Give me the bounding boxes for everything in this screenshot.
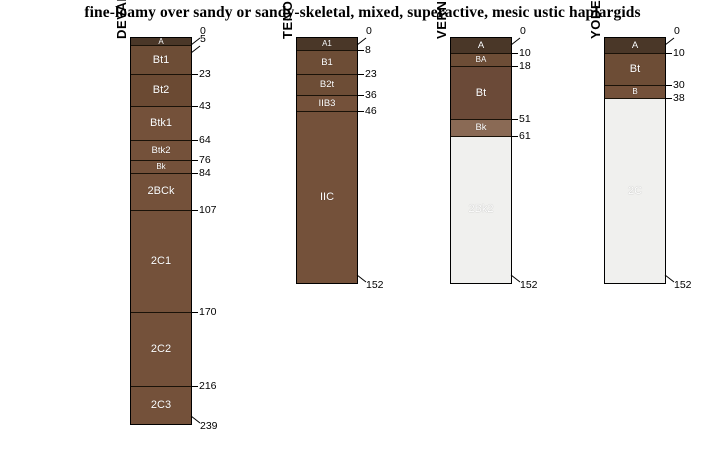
depth-tick [511,53,518,54]
profile-column: A1B1B2tIIB3IIC [296,37,358,284]
horizon-label: A [478,41,484,51]
horizon-label: Bk [475,123,486,133]
profile-name-label: TENORIO [280,0,295,39]
soil-horizon: B [605,86,665,99]
depth-tick-label: 36 [365,90,377,101]
depth-tick-label: 170 [199,307,217,318]
horizon-label: Bk [156,163,165,171]
depth-tick [191,140,198,141]
depth-tick [191,210,198,211]
soil-horizon: BA [451,54,511,67]
soil-horizon: Bt1 [131,46,191,75]
depth-axis-line [191,37,192,424]
depth-tick [357,50,364,51]
depth-tick [191,74,198,75]
horizon-label: B [632,88,637,96]
soil-horizon: 2Bk2 [451,137,511,284]
horizon-label: Bt2 [153,85,170,96]
page-title: fine-loamy over sandy or sandy-skeletal,… [0,4,725,22]
depth-tick [357,95,364,96]
depth-axis-line [665,37,666,283]
depth-tick [511,66,518,67]
horizon-label: Btk2 [151,146,170,156]
profile-column: ABt1Bt2Btk1Btk2Bk2BCk2C12C22C3 [130,37,192,425]
depth-tick [357,111,364,112]
depth-tick-label: 51 [519,114,531,125]
depth-tick-label: 10 [673,48,685,59]
depth-tick-label: 152 [366,280,384,291]
depth-tick [357,74,364,75]
horizon-label: 2Bk2 [468,204,493,215]
depth-tick [191,386,198,387]
horizon-label: 2C [628,186,642,197]
depth-tick-label: 8 [365,45,371,56]
soil-horizon: Bk [451,120,511,136]
depth-tick [191,312,198,313]
depth-tick [511,136,518,137]
depth-tick-label: 64 [199,135,211,146]
soil-horizon: A [451,38,511,54]
depth-tick-label: 5 [200,34,206,45]
depth-tick [665,98,672,99]
soil-horizon: Btk1 [131,107,191,141]
soil-horizon: Bt [451,67,511,120]
depth-tick-label: 43 [199,101,211,112]
depth-tick [191,106,198,107]
depth-tick [511,119,518,120]
depth-tick-label: 38 [673,93,685,104]
soil-horizon: 2BCk [131,174,191,211]
horizon-label: A [158,38,163,46]
soil-horizon: Bt [605,54,665,86]
soil-horizon: 2C2 [131,313,191,387]
soil-horizon: A [605,38,665,54]
depth-tick-label: 0 [520,26,526,37]
horizon-label: B2t [320,80,334,90]
horizon-label: 2C1 [151,256,171,267]
depth-tick-label: 0 [366,26,372,37]
depth-tick-label: 239 [200,421,218,432]
depth-tick-label: 10 [519,48,531,59]
depth-tick-label: 216 [199,381,217,392]
profile-name-label: YODER [588,0,603,39]
depth-tick-label: 0 [674,26,680,37]
soil-horizon: IIB3 [297,96,357,112]
soil-horizon: Bk [131,161,191,174]
horizon-label: Bt [630,64,640,75]
soil-horizon: 2C1 [131,211,191,313]
depth-tick-label: 23 [199,69,211,80]
soil-horizon: 2C [605,99,665,283]
horizon-label: IIC [320,192,334,203]
depth-tick-label: 61 [519,131,531,142]
horizon-label: Bt1 [153,55,170,66]
horizon-label: 2BCk [148,186,175,197]
profile-column: ABABtBk2Bk2 [450,37,512,284]
depth-tick-label: 152 [520,280,538,291]
horizon-label: 2C2 [151,344,171,355]
depth-tick-label: 46 [365,106,377,117]
horizon-label: IIB3 [319,99,336,109]
profile-name-label: DEVARGAS [114,0,129,39]
depth-tick-leader [191,45,201,57]
depth-axis-line [511,37,512,283]
horizon-label: A [632,41,638,51]
soil-horizon: B1 [297,51,357,75]
horizon-label: B1 [321,58,333,68]
soil-horizon: Bt2 [131,75,191,107]
depth-tick-label: 76 [199,155,211,166]
profile-name-label: VERNAL [434,0,449,39]
depth-tick-label: 152 [674,280,692,291]
horizon-label: BA [476,56,487,64]
horizon-label: Bt [476,88,486,99]
horizon-label: 2C3 [151,400,171,411]
depth-tick-label: 30 [673,80,685,91]
horizon-label: Btk1 [150,118,172,129]
soil-horizon: A [131,38,191,46]
profile-column: ABtB2C [604,37,666,284]
soil-horizon: 2C3 [131,387,191,424]
soil-horizon: A1 [297,38,357,51]
depth-tick-label: 18 [519,61,531,72]
soil-horizon: B2t [297,75,357,96]
depth-tick [191,173,198,174]
depth-tick [665,85,672,86]
depth-tick-label: 23 [365,69,377,80]
horizon-label: A1 [322,40,332,48]
depth-tick-label: 84 [199,168,211,179]
soil-horizon: IIC [297,112,357,283]
soil-horizon: Btk2 [131,141,191,160]
depth-tick-label: 107 [199,205,217,216]
depth-tick [665,53,672,54]
depth-tick [191,160,198,161]
